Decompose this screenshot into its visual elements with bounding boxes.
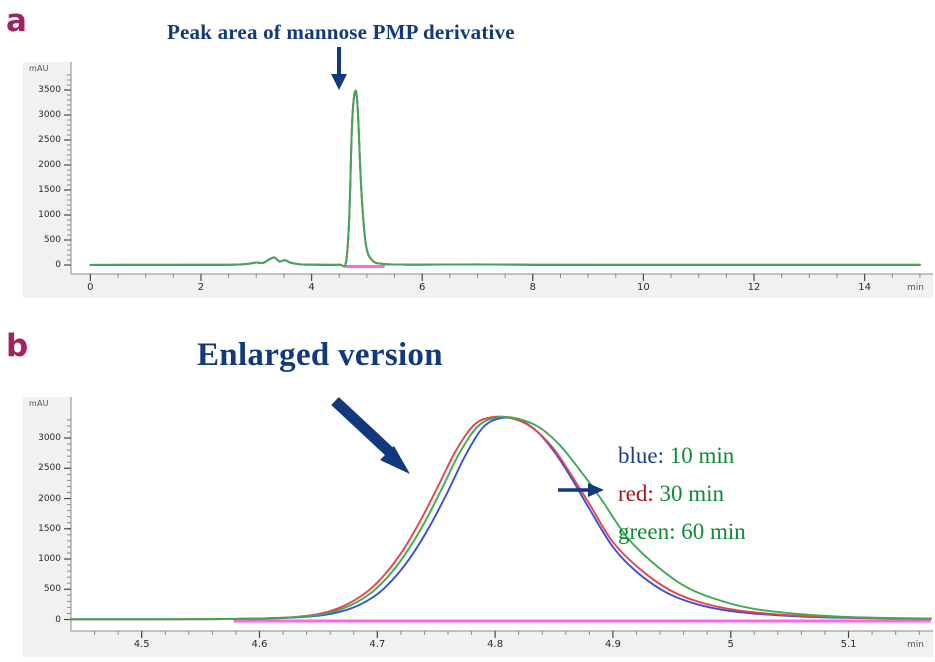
- legend-row-green: green: 60 min: [618, 513, 746, 551]
- y-axis-tick-label: 3000: [23, 110, 61, 120]
- x-axis-unit-label: min: [907, 640, 924, 650]
- x-axis-tick-label: 5: [728, 639, 734, 650]
- y-axis-tick-label: 2000: [23, 160, 61, 170]
- x-axis-tick-label: 2: [198, 282, 204, 293]
- y-axis-tick-label: 1000: [23, 210, 61, 220]
- chromatogram-trace: [71, 417, 931, 620]
- legend-name-red: red:: [618, 481, 654, 506]
- y-axis-tick-label: 2000: [23, 494, 61, 504]
- down-arrow-panel-a: [325, 46, 365, 92]
- y-axis-tick-label: 500: [23, 235, 61, 245]
- x-axis-tick-label: 5.1: [841, 639, 857, 650]
- x-axis-tick-label: 4.6: [252, 639, 268, 650]
- y-axis-tick-label: 0: [23, 260, 61, 270]
- y-axis-tick-label: 1000: [23, 554, 61, 564]
- axes-and-traces: [23, 62, 933, 298]
- chromatogram-panel-b: 0500100015002000250030004.54.64.74.84.95…: [23, 397, 933, 657]
- y-axis-tick-label: 1500: [23, 524, 61, 534]
- legend-value-green: 60 min: [681, 519, 746, 544]
- y-axis-tick-label: 0: [23, 615, 61, 625]
- x-axis-tick-label: 4.7: [369, 639, 385, 650]
- axes-and-traces: [23, 397, 933, 657]
- x-axis-tick-label: 0: [87, 282, 93, 293]
- legend-row-red: red: 30 min: [618, 475, 746, 513]
- panel-label-a: a: [6, 6, 27, 37]
- trace-legend: blue: 10 min red: 30 min green: 60 min: [618, 437, 746, 551]
- thick-diagonal-arrow-panel-b: [332, 398, 432, 484]
- x-axis-unit-label: min: [907, 283, 924, 293]
- thin-right-arrow-panel-b: [558, 480, 610, 500]
- panel-a-title: Peak area of mannose PMP derivative: [167, 20, 515, 45]
- y-axis-tick-label: 2500: [23, 135, 61, 145]
- chromatogram-trace: [90, 90, 920, 266]
- y-axis-unit-label: mAU: [29, 399, 49, 408]
- x-axis-tick-label: 6: [419, 282, 425, 293]
- panel-label-b: b: [6, 331, 28, 362]
- y-axis-tick-label: 2500: [23, 463, 61, 473]
- x-axis-tick-label: 4: [308, 282, 314, 293]
- y-axis-tick-label: 3500: [23, 85, 61, 95]
- x-axis-tick-label: 4.5: [134, 639, 150, 650]
- x-axis-tick-label: 4.9: [605, 639, 621, 650]
- chromatogram-trace: [71, 417, 931, 620]
- y-axis-tick-label: 3000: [23, 433, 61, 443]
- chromatogram-trace: [90, 91, 920, 267]
- chromatogram-trace: [90, 91, 920, 267]
- y-axis-tick-label: 500: [23, 584, 61, 594]
- legend-value-red: 30 min: [660, 481, 725, 506]
- chromatogram-panel-a: 050010001500200025003000350002468101214m…: [23, 62, 933, 298]
- legend-name-blue: blue:: [618, 443, 664, 468]
- legend-name-green: green:: [618, 519, 675, 544]
- legend-value-blue: 10 min: [670, 443, 735, 468]
- x-axis-tick-label: 12: [748, 282, 761, 293]
- panel-b-title: Enlarged version: [197, 337, 443, 374]
- x-axis-tick-label: 4.8: [487, 639, 503, 650]
- x-axis-tick-label: 8: [530, 282, 536, 293]
- x-axis-tick-label: 14: [858, 282, 871, 293]
- x-axis-tick-label: 10: [637, 282, 650, 293]
- chromatogram-trace: [71, 418, 931, 620]
- y-axis-tick-label: 1500: [23, 185, 61, 195]
- legend-row-blue: blue: 10 min: [618, 437, 746, 475]
- y-axis-unit-label: mAU: [29, 64, 49, 73]
